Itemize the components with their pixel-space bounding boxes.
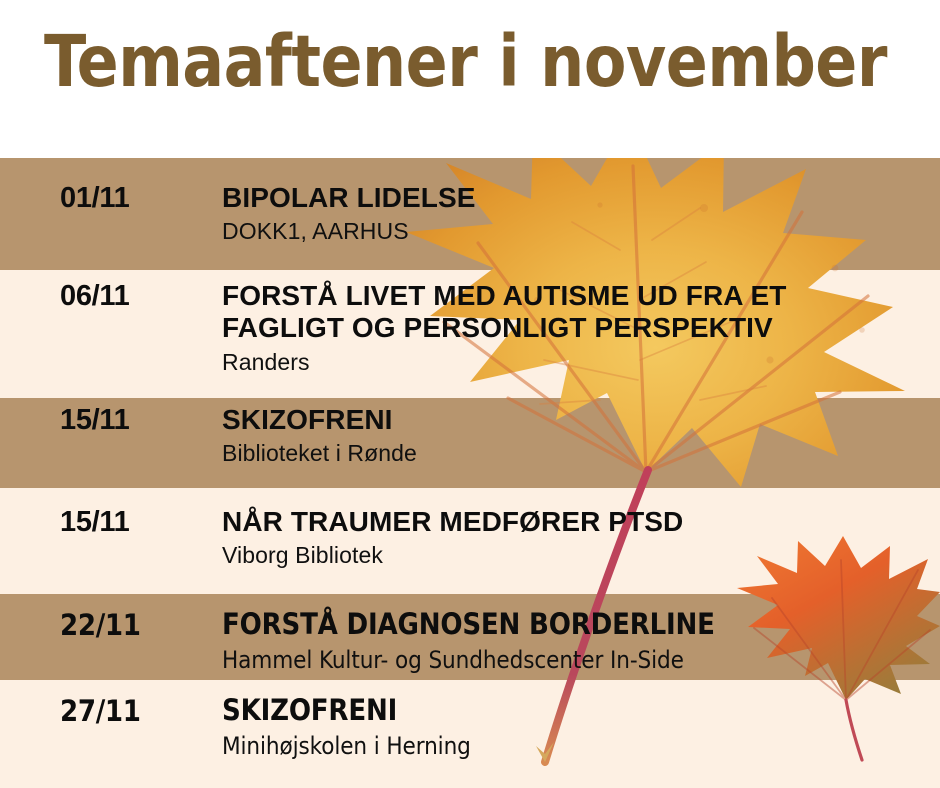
event-body: FORSTÅ DIAGNOSEN BORDERLINE Hammel Kultu…: [222, 608, 922, 674]
event-venue: Hammel Kultur- og Sundhedscenter In-Side: [222, 646, 922, 675]
event-venue: Biblioteket i Rønde: [222, 440, 922, 468]
event-title: SKIZOFRENI: [222, 694, 922, 728]
event-title: SKIZOFRENI: [222, 404, 922, 436]
event-body: SKIZOFRENI Minihøjskolen i Herning: [222, 694, 922, 760]
event-title: FORSTÅ LIVET MED AUTISME UD FRA ET FAGLI…: [222, 280, 922, 345]
title-band: Temaaftener i november: [0, 0, 940, 158]
event-date: 15/11: [60, 506, 129, 539]
event-title: NÅR TRAUMER MEDFØRER PTSD: [222, 506, 922, 538]
event-title: FORSTÅ DIAGNOSEN BORDERLINE: [222, 608, 922, 642]
event-venue: Viborg Bibliotek: [222, 542, 922, 570]
event-date: 22/11: [60, 608, 141, 642]
event-title: BIPOLAR LIDELSE: [222, 182, 922, 214]
event-body: NÅR TRAUMER MEDFØRER PTSD Viborg Bibliot…: [222, 506, 922, 570]
event-date: 27/11: [60, 694, 141, 728]
event-venue: Minihøjskolen i Herning: [222, 732, 922, 761]
event-body: FORSTÅ LIVET MED AUTISME UD FRA ET FAGLI…: [222, 280, 922, 377]
event-date: 06/11: [60, 280, 129, 313]
event-venue: DOKK1, AARHUS: [222, 218, 922, 246]
page-title: Temaaftener i november: [44, 26, 887, 97]
poster-canvas: Temaaftener i november 01/11 BIPOLAR LID…: [0, 0, 940, 788]
event-venue: Randers: [222, 349, 922, 377]
event-body: SKIZOFRENI Biblioteket i Rønde: [222, 404, 922, 468]
event-date: 15/11: [60, 404, 129, 437]
event-body: BIPOLAR LIDELSE DOKK1, AARHUS: [222, 182, 922, 246]
event-date: 01/11: [60, 182, 129, 215]
